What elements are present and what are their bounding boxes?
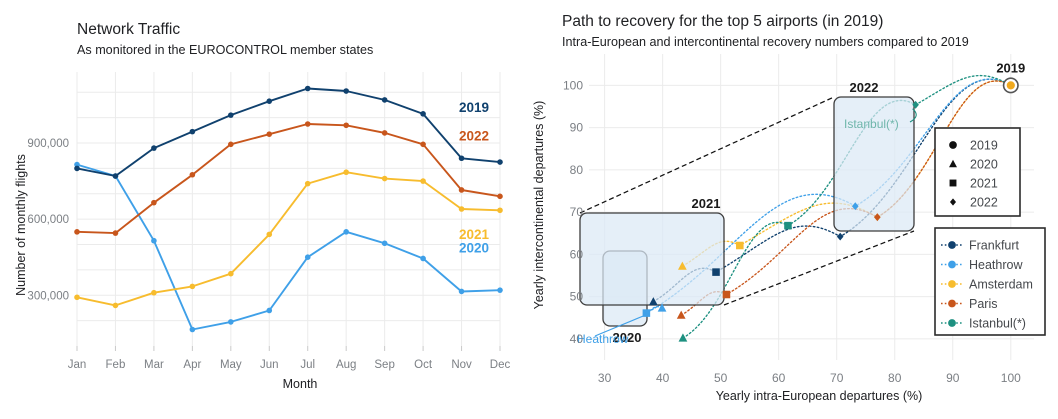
right-x-tick-label: 70	[830, 371, 844, 385]
left-data-point	[151, 290, 157, 296]
airport-legend-label-2[interactable]: Amsterdam	[969, 278, 1033, 292]
left-data-point	[113, 230, 119, 236]
left-data-point	[266, 232, 272, 238]
left-y-ticks: 300,000600,000900,000	[27, 138, 69, 302]
left-x-tick-label: Aug	[336, 359, 356, 371]
left-data-point	[343, 122, 349, 128]
left-x-tick-label: Mar	[144, 359, 164, 371]
left-data-point	[382, 176, 388, 182]
left-data-point	[420, 111, 426, 117]
left-x-tick-label: Jan	[68, 359, 87, 371]
right-y-tick-label: 70	[570, 205, 584, 219]
left-data-point	[228, 142, 234, 148]
airport-legend-label-4[interactable]: Istanbul(*)	[969, 317, 1026, 331]
airport-legend-label-1[interactable]: Heathrow	[969, 258, 1023, 272]
airport-legend[interactable]: FrankfurtHeathrowAmsterdamParisIstanbul(…	[935, 228, 1045, 335]
left-data-point	[305, 121, 311, 127]
left-y-axis-title: Number of monthly flights	[14, 154, 28, 296]
airport-legend-marker-3	[948, 300, 956, 308]
left-x-tick-label: Jun	[260, 359, 279, 371]
airport-legend-marker-0	[948, 241, 956, 249]
left-data-point	[343, 88, 349, 94]
path-to-recovery-chart: Path to recovery for the top 5 airports …	[529, 0, 1058, 419]
left-series-line	[77, 89, 500, 177]
dual-chart-figure: Network Traffic As monitored in the EURO…	[0, 0, 1058, 419]
left-x-axis-title: Month	[283, 377, 318, 391]
left-x-tick-label: Feb	[106, 359, 126, 371]
left-data-point	[343, 169, 349, 175]
left-data-point	[151, 145, 157, 151]
left-data-point	[151, 200, 157, 206]
inset-label-2022: 2022	[850, 80, 879, 95]
marker-2019-shared-inner	[1007, 81, 1015, 89]
left-data-point	[420, 178, 426, 184]
airport-legend-marker-2	[948, 280, 956, 288]
left-data-point	[459, 206, 465, 212]
left-chart-title: Network Traffic	[77, 21, 180, 38]
airport-legend-label-0[interactable]: Frankfurt	[969, 239, 1020, 253]
inset-box-2021	[580, 213, 724, 305]
right-x-tick-label: 60	[772, 371, 786, 385]
left-x-tick-label: Oct	[414, 359, 433, 371]
left-data-point	[382, 97, 388, 103]
right-y-tick-label: 40	[570, 332, 584, 346]
airport-legend-marker-4	[948, 319, 956, 327]
year-legend-label-2021[interactable]: 2021	[970, 177, 998, 191]
left-data-point	[190, 284, 196, 290]
left-data-point	[343, 229, 349, 235]
year-legend-marker-2019	[949, 141, 957, 149]
left-data-point	[497, 287, 503, 293]
year-legend-label-2019[interactable]: 2019	[970, 139, 998, 153]
left-data-point	[113, 303, 119, 309]
marker-paris-2020	[677, 311, 686, 319]
airport-legend-marker-1	[948, 261, 956, 269]
right-x-tick-label: 80	[888, 371, 902, 385]
right-y-tick-label: 50	[570, 290, 584, 304]
right-y-tick-label: 60	[570, 247, 584, 261]
left-x-ticks: JanFebMarAprMayJunJulAugSepOctNovDec	[68, 346, 511, 371]
left-data-point	[228, 319, 234, 325]
left-data-point	[497, 194, 503, 200]
left-data-point	[113, 173, 119, 179]
left-data-point	[266, 131, 272, 137]
left-series-label-2019: 2019	[459, 100, 489, 115]
left-data-point	[459, 187, 465, 193]
year-legend-label-2020[interactable]: 2020	[970, 158, 998, 172]
marker-frankfurt-2022	[837, 233, 844, 241]
left-data-point	[74, 166, 80, 172]
left-data-point	[228, 271, 234, 277]
left-data-point	[74, 294, 80, 300]
right-y-tick-label: 100	[563, 78, 583, 92]
left-data-point	[151, 238, 157, 244]
right-y-tick-label: 90	[570, 121, 584, 135]
left-y-tick-label: 900,000	[27, 138, 69, 150]
right-chart-title: Path to recovery for the top 5 airports …	[562, 13, 883, 30]
left-data-point	[190, 327, 196, 333]
left-data-point	[420, 142, 426, 148]
left-x-tick-label: Sep	[374, 359, 394, 371]
left-data-point	[497, 159, 503, 165]
network-traffic-chart: Network Traffic As monitored in the EURO…	[0, 0, 529, 419]
inset-label-2021: 2021	[692, 196, 721, 211]
left-data-point	[266, 98, 272, 104]
right-y-axis-title: Yearly intercontinental departures (%)	[532, 101, 546, 310]
left-data-point	[497, 207, 503, 213]
right-x-tick-label: 40	[656, 371, 670, 385]
left-series-end-labels: 2019202220212020	[459, 100, 490, 256]
zoom-connector-bottom	[724, 231, 914, 305]
left-data-point	[459, 155, 465, 161]
left-data-point	[305, 254, 311, 260]
annotation-istanbul: Istanbul(*)	[844, 117, 899, 131]
marker-istanbul-2020	[679, 333, 688, 341]
left-chart-subtitle: As monitored in the EUROCONTROL member s…	[77, 43, 373, 57]
network-traffic-panel: Network Traffic As monitored in the EURO…	[0, 0, 529, 419]
year-legend-marker-2021	[950, 180, 957, 187]
right-y-tick-label: 80	[570, 163, 584, 177]
label-2019-point: 2019	[996, 60, 1025, 75]
left-data-point	[459, 289, 465, 295]
left-data-point	[190, 129, 196, 135]
left-x-tick-label: Apr	[183, 359, 201, 371]
left-data-point	[305, 181, 311, 187]
marker-istanbul-2021	[784, 222, 792, 230]
left-series-label-2022: 2022	[459, 128, 489, 143]
left-x-tick-label: May	[220, 359, 242, 371]
annotation-heathrow: Heathrow	[577, 332, 629, 346]
left-x-tick-label: Nov	[451, 359, 472, 371]
right-x-tick-label: 100	[1001, 371, 1021, 385]
right-x-ticks: 30405060708090100	[598, 371, 1021, 385]
right-x-axis-title: Yearly intra-European departures (%)	[716, 389, 923, 403]
path-to-recovery-panel: Path to recovery for the top 5 airports …	[529, 0, 1058, 419]
left-x-tick-label: Dec	[490, 359, 511, 371]
right-chart-subtitle: Intra-European and intercontinental reco…	[562, 35, 969, 49]
year-marker-legend[interactable]: 2019202020212022	[935, 128, 1020, 216]
marker-amsterdam-2021	[736, 242, 744, 250]
left-data-point	[74, 229, 80, 235]
right-y-ticks: 405060708090100	[563, 78, 583, 346]
left-data-point	[190, 172, 196, 178]
right-x-tick-label: 30	[598, 371, 612, 385]
left-y-tick-label: 600,000	[27, 214, 69, 226]
marker-paris-2021	[723, 291, 731, 299]
left-data-point	[305, 86, 311, 92]
left-data-point	[420, 256, 426, 262]
left-series-line	[77, 165, 500, 330]
airport-legend-label-3[interactable]: Paris	[969, 297, 997, 311]
year-legend-label-2022[interactable]: 2022	[970, 196, 998, 210]
right-x-tick-label: 50	[714, 371, 728, 385]
left-series-label-2020: 2020	[459, 240, 489, 255]
left-data-point	[382, 240, 388, 246]
marker-frankfurt-2021	[712, 268, 720, 276]
left-data-point	[382, 130, 388, 136]
left-y-tick-label: 300,000	[27, 290, 69, 302]
left-x-tick-label: Jul	[300, 359, 315, 371]
left-data-point	[228, 112, 234, 118]
left-data-point	[266, 308, 272, 314]
right-x-tick-label: 90	[946, 371, 960, 385]
inset-boxes	[580, 97, 914, 326]
